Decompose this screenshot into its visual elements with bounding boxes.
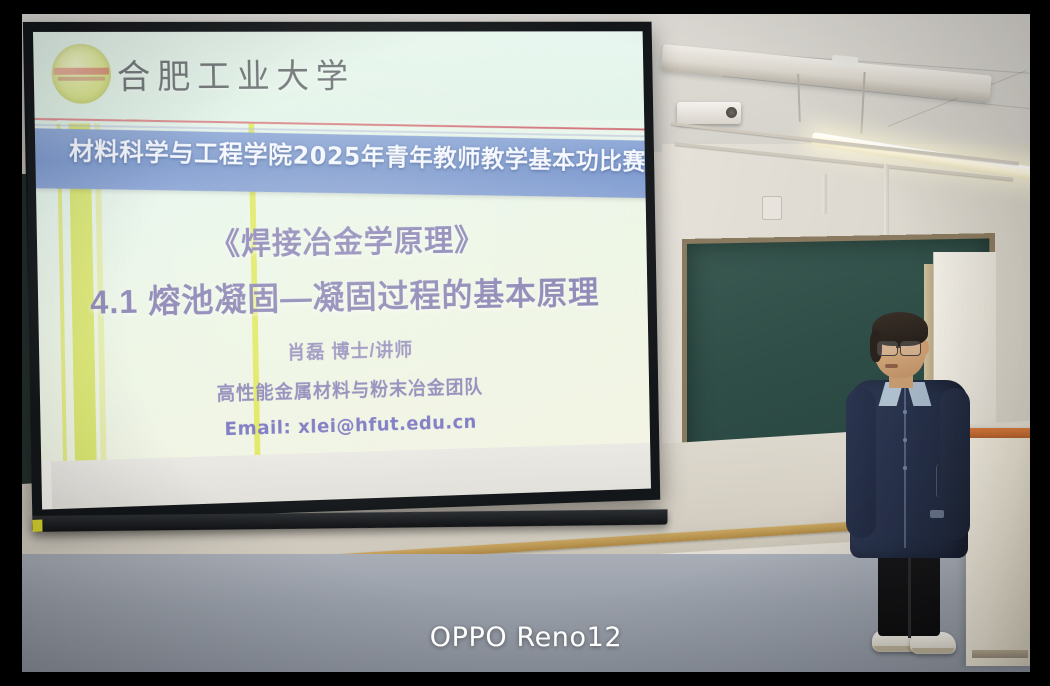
course-title: 《焊接冶金学原理》 [37,213,647,267]
shirt-button [903,410,907,414]
glasses-lens-right-icon [900,341,921,356]
glasses-lens-left-icon [877,341,898,356]
jacket-logo-icon [930,510,944,518]
shirt-button [903,438,907,442]
arm-left [846,388,876,538]
slide-canvas: 合肥工业大学 材料科学与工程学院2025年青年教师教学基本功比赛 《焊接冶金学原… [33,31,650,461]
mouth [885,364,898,368]
university-logo-icon [51,44,111,104]
screen-bar-end-cap [32,520,42,532]
projector [677,102,741,124]
presenter-name: 肖磊 博士/讲师 [39,330,649,371]
chapter-title: 4.1 熔池凝固—凝固过程的基本原理 [38,266,648,325]
wall-pipe [822,174,827,214]
team-name: 高性能金属材料与粉末冶金团队 [40,368,650,411]
shirt-button [903,466,907,470]
presenter-email: Email: xlei@hfut.edu.cn [40,406,649,445]
logo-bar [58,77,106,81]
photo-letterbox-frame: 合肥工业大学 材料科学与工程学院2025年青年教师教学基本功比赛 《焊接冶金学原… [0,0,1050,686]
jacket-pocket [936,464,957,498]
university-name: 合肥工业大学 [116,49,355,98]
screen-surface: 合肥工业大学 材料科学与工程学院2025年青年教师教学基本功比赛 《焊接冶金学原… [33,31,651,509]
glasses-bridge-icon [896,346,901,348]
projector-lens-icon [726,107,737,118]
presenter-person [844,314,974,666]
classroom-photo: 合肥工业大学 材料科学与工程学院2025年青年教师教学基本功比赛 《焊接冶金学原… [22,14,1030,672]
device-watermark: OPPO Reno12 [22,622,1030,653]
logo-bar [54,68,109,75]
wall-socket[interactable] [762,196,782,220]
projection-screen: 合肥工业大学 材料科学与工程学院2025年青年教师教学基本功比赛 《焊接冶金学原… [23,22,688,562]
screen-frame: 合肥工业大学 材料科学与工程学院2025年青年教师教学基本功比赛 《焊接冶金学原… [23,22,660,522]
